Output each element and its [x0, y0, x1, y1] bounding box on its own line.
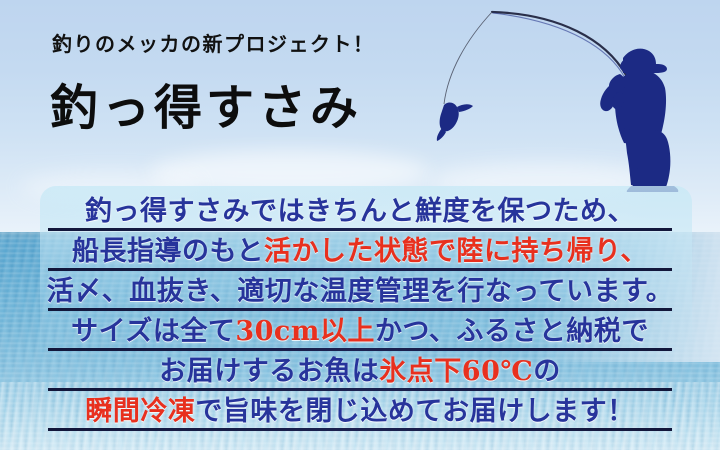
- body-text: サイズは全て: [71, 316, 235, 347]
- highlighted-text: 30cm以上: [235, 316, 375, 347]
- fishing-rod-icon: [492, 12, 626, 75]
- page-title: 釣っ得すさみ: [50, 68, 362, 138]
- body-text: かつ、ふるさと納税で: [375, 316, 649, 347]
- hooked-fish-icon: [437, 103, 473, 141]
- fisherman-silhouette-icon: [420, 0, 720, 192]
- tagline: 釣りのメッカの新プロジェクト！: [52, 28, 375, 57]
- body-line: お届けするお魚は氷点下60℃の: [0, 348, 720, 388]
- body-line-text: 釣っ得すさみではきちんと鮮度を保つため、: [0, 189, 720, 228]
- highlighted-text: 氷点下60℃: [379, 356, 533, 387]
- body-line: 瞬間冷凍で旨味を閉じ込めてお届けします！: [0, 388, 720, 428]
- body-line: サイズは全て30cm以上かつ、ふるさと納税で: [0, 308, 720, 348]
- body-text: 船長指導のもと: [72, 236, 264, 267]
- body-line: 釣っ得すさみではきちんと鮮度を保つため、: [0, 188, 720, 228]
- body-text-block: 釣っ得すさみではきちんと鮮度を保つため、船長指導のもと活かした状態で陸に持ち帰り…: [0, 188, 720, 428]
- body-text: 活〆、血抜き、適切な温度管理を行なっています。: [47, 276, 674, 307]
- underline-rule: [48, 428, 672, 431]
- body-text: で旨味を閉じ込めてお届けします！: [195, 396, 634, 427]
- body-line: 船長指導のもと活かした状態で陸に持ち帰り、: [0, 228, 720, 268]
- fishing-line-icon: [444, 12, 492, 104]
- body-text: お届けするお魚は: [159, 356, 379, 387]
- body-line: 活〆、血抜き、適切な温度管理を行なっています。: [0, 268, 720, 308]
- body-text: 釣っ得すさみではきちんと鮮度を保つため、: [85, 196, 635, 227]
- angler-icon: [600, 49, 678, 192]
- body-line-text: 活〆、血抜き、適切な温度管理を行なっています。: [0, 269, 720, 308]
- highlighted-text: 活かした状態で陸に持ち帰り、: [264, 236, 648, 267]
- body-line-text: サイズは全て30cm以上かつ、ふるさと納税で: [0, 309, 720, 348]
- body-line-text: お届けするお魚は氷点下60℃の: [0, 349, 720, 388]
- body-line-text: 船長指導のもと活かした状態で陸に持ち帰り、: [0, 229, 720, 268]
- promo-banner: 釣りのメッカの新プロジェクト！ 釣っ得すさみ: [0, 0, 720, 450]
- highlighted-text: 瞬間冷凍: [85, 396, 195, 427]
- body-text: の: [533, 356, 561, 387]
- body-line-text: 瞬間冷凍で旨味を閉じ込めてお届けします！: [0, 389, 720, 428]
